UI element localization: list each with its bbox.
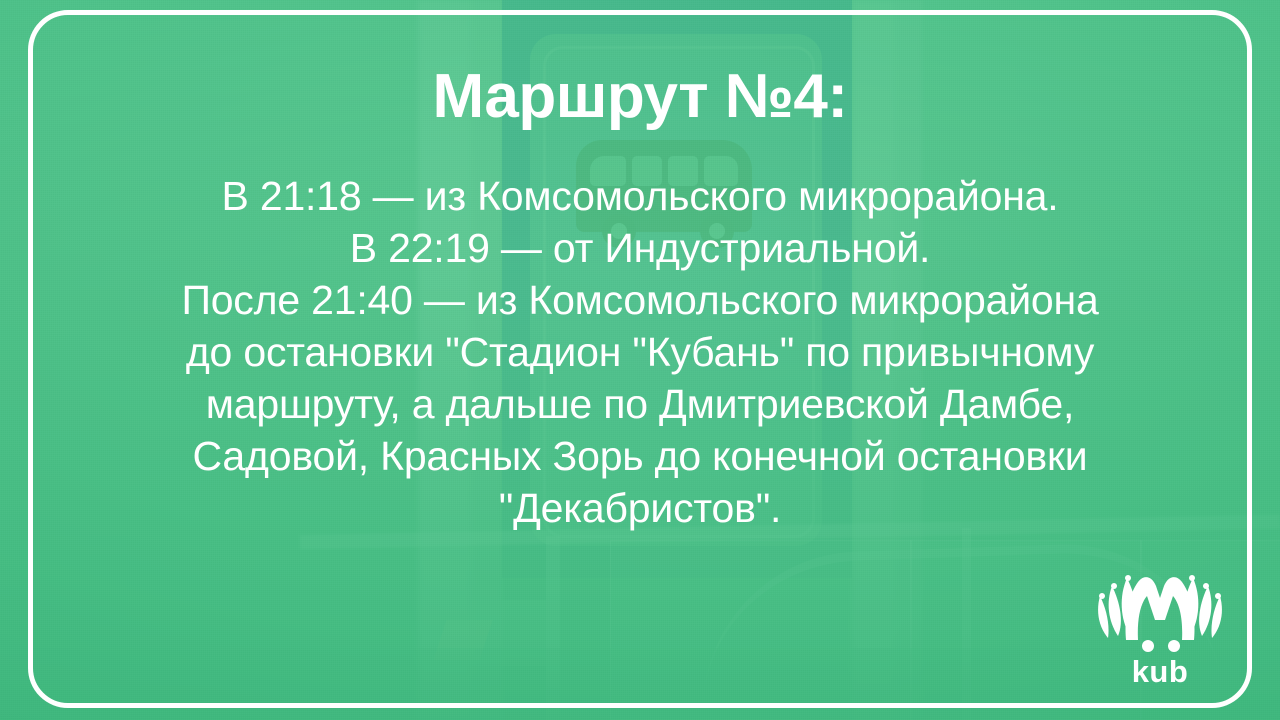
kub-wordmark: kub (1086, 656, 1234, 687)
announcement-line: маршруту, а дальше по Дмитриевской Дамбе… (20, 378, 1260, 430)
announcement-line: В 22:19 — от Индустриальной. (20, 222, 1260, 274)
announcement-line: "Декабристов". (20, 482, 1260, 534)
info-card: Маршрут №4: В 21:18 — из Комсомольского … (0, 0, 1280, 720)
page-title: Маршрут №4: (432, 66, 847, 128)
announcement-line: Садовой, Красных Зорь до конечной остано… (20, 430, 1260, 482)
announcement-line: В 21:18 — из Комсомольского микрорайона. (20, 170, 1260, 222)
announcement-line: После 21:40 — из Комсомольского микрорай… (20, 274, 1260, 326)
kub-logo: kub (1086, 556, 1234, 686)
announcement-body: В 21:18 — из Комсомольского микрорайона.… (20, 170, 1260, 534)
kub-m-wheat-icon (1086, 556, 1234, 660)
announcement-line: до остановки "Стадион "Кубань" по привыч… (20, 326, 1260, 378)
